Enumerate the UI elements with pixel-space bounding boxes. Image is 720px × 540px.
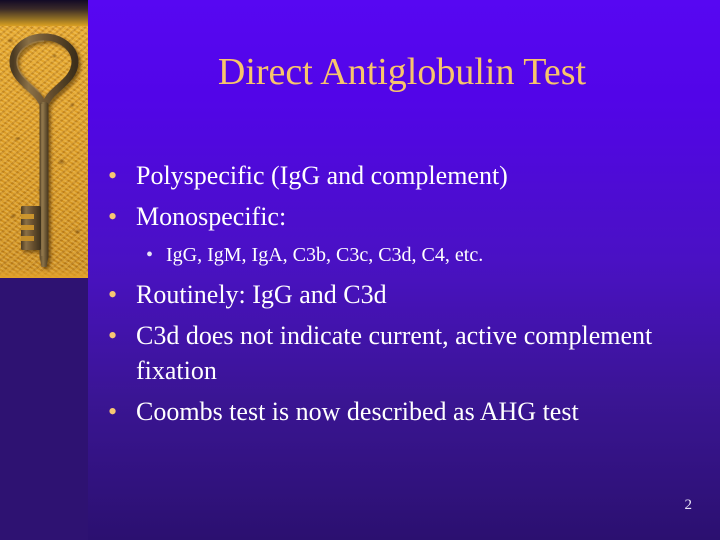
bullet-marker-icon: •: [108, 277, 136, 312]
slide-body-content: • Polyspecific (IgG and complement) • Mo…: [108, 158, 708, 435]
bullet-item: • C3d does not indicate current, active …: [108, 318, 708, 388]
strip-top-fade: [0, 0, 88, 26]
bullet-marker-icon: •: [108, 394, 136, 429]
sub-bullet-marker-icon: •: [146, 240, 166, 270]
skeleton-key-on-sand-photo: [0, 20, 88, 278]
bullet-item: • Monospecific:: [108, 199, 708, 234]
bullet-marker-icon: •: [108, 318, 136, 353]
sub-bullet-text: IgG, IgM, IgA, C3b, C3c, C3d, C4, etc.: [166, 240, 708, 270]
slide-number: 2: [685, 496, 693, 514]
presentation-slide: Direct Antiglobulin Test • Polyspecific …: [0, 0, 720, 540]
photo-bottom-blend: [0, 268, 88, 278]
sub-bullet-item: • IgG, IgM, IgA, C3b, C3c, C3d, C4, etc.: [108, 240, 708, 270]
bullet-text: Routinely: IgG and C3d: [136, 277, 676, 312]
bullet-marker-icon: •: [108, 158, 136, 193]
bullet-text: Polyspecific (IgG and complement): [136, 158, 676, 193]
bullet-item: • Routinely: IgG and C3d: [108, 277, 708, 312]
skeleton-key-icon: [0, 20, 88, 278]
bullet-marker-icon: •: [108, 199, 136, 234]
slide-title: Direct Antiglobulin Test: [96, 48, 708, 96]
left-decorative-strip: [0, 0, 88, 540]
bullet-text: Coombs test is now described as AHG test: [136, 394, 676, 429]
bullet-item: • Coombs test is now described as AHG te…: [108, 394, 708, 429]
bullet-text: Monospecific:: [136, 199, 676, 234]
bullet-item: • Polyspecific (IgG and complement): [108, 158, 708, 193]
bullet-text: C3d does not indicate current, active co…: [136, 318, 676, 388]
